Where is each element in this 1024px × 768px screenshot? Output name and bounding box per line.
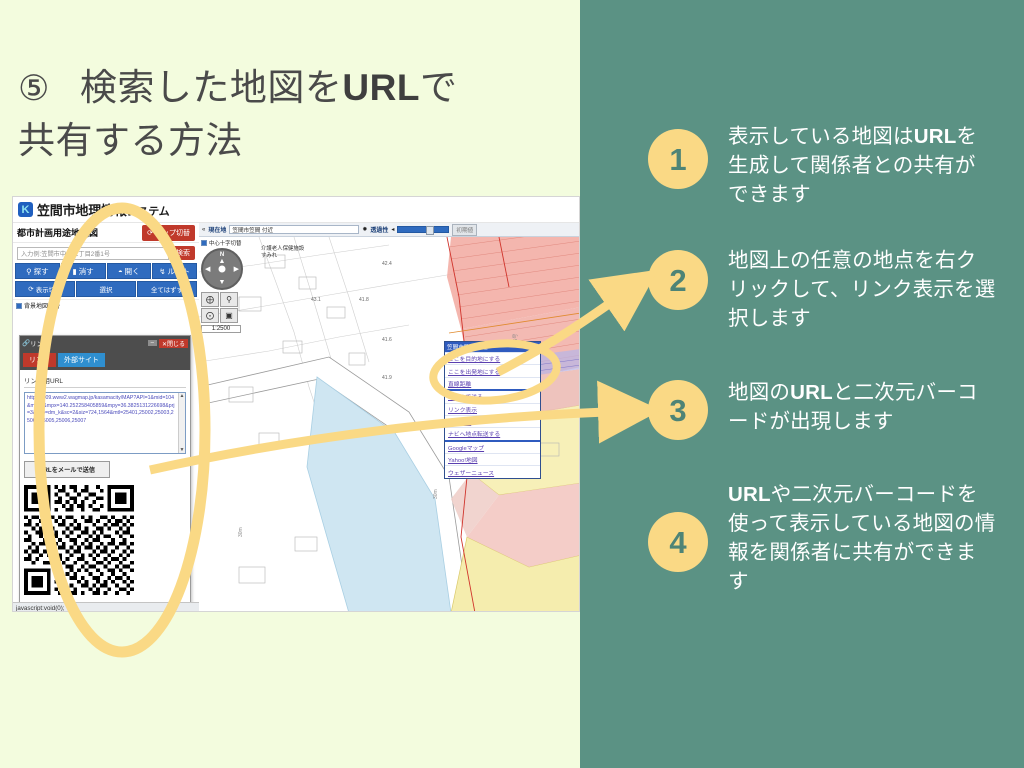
- compass-pan-control[interactable]: N ▲ ▼ ◀ ▶: [201, 248, 243, 290]
- page-title-line1-a: 検索した地図を: [80, 67, 343, 108]
- link-dialog-title: リンク: [30, 338, 50, 348]
- step-text-2-part-0: 地図上の任意の地点を右クリックして、リンク表示を選択します: [728, 249, 995, 330]
- toolbar-button-clear-all[interactable]: 全てはずす: [137, 281, 197, 297]
- search-input[interactable]: 入力例:笠間市中央三丁目2番1号: [17, 247, 169, 260]
- step-text-2: 地図上の任意の地点を右クリックして、リンク表示を選択します: [728, 246, 996, 333]
- toolbar-button-open-label: 開く: [125, 266, 140, 277]
- caret-up-icon[interactable]: ▲: [180, 393, 185, 399]
- slider-handle-icon: ◂: [391, 226, 394, 233]
- app-header: K 笠間市地理情報システム: [13, 197, 579, 223]
- refresh-icon: ⟳: [147, 229, 153, 237]
- context-menu-item-weather-news[interactable]: ウェザーニュース: [445, 465, 540, 477]
- caret-down-icon[interactable]: ▼: [180, 447, 185, 453]
- context-menu-item-destination[interactable]: ここを目的地にする: [445, 352, 540, 364]
- tab-external-site[interactable]: 外部サイト: [58, 353, 105, 367]
- close-button-label: 閉じる: [167, 342, 185, 348]
- layer-checkbox[interactable]: [16, 303, 22, 309]
- step-item-2: 2 地図上の任意の地点を右クリックして、リンク表示を選択します: [648, 246, 996, 333]
- eraser-icon: ▮: [73, 267, 77, 276]
- step-text-4: URLや二次元バーコードを使って表示している地図の情報を関係者に共有ができます: [728, 480, 996, 596]
- tab-link[interactable]: リンク: [23, 353, 56, 367]
- link-dialog-tabs: リンク 外部サイト: [20, 350, 190, 370]
- map-pane: « 現在地 笠間市笠間 付近 ✹ 透過性 ◂ 初期値: [199, 223, 579, 612]
- slide-canvas: ⑤検索した地図をURLで 共有する方法 1 表示している地図はURLを生成して関…: [0, 0, 1024, 768]
- app-title: 笠間市地理情報システム: [37, 200, 169, 219]
- context-menu-item-straight-distance[interactable]: 直線距離: [445, 377, 540, 389]
- toolbar-button-erase[interactable]: ▮消す: [61, 263, 106, 279]
- context-menu-item-send-mail[interactable]: メールで送る: [445, 389, 540, 402]
- folder-icon: ◓: [118, 267, 123, 276]
- pan-center-icon[interactable]: [219, 266, 226, 273]
- toolbar-button-select[interactable]: 選択: [76, 281, 136, 297]
- crosshair-icon[interactable]: ✹: [362, 226, 367, 233]
- context-menu-item-google-maps[interactable]: Googleマップ: [445, 440, 540, 453]
- pan-left-icon[interactable]: ◀: [205, 265, 210, 273]
- step-item-3: 3 地図のURLと二次元バーコードが出現します: [648, 378, 996, 440]
- toolbar-button-route[interactable]: ↯ルート: [152, 263, 197, 279]
- svg-text:30m: 30m: [433, 489, 439, 499]
- toolbar-row-2: ⟳表示切替 選択 全てはずす: [13, 281, 199, 299]
- opacity-slider-knob[interactable]: [426, 226, 434, 235]
- qr-code: [24, 485, 134, 595]
- map-canvas[interactable]: 30m 30m 国道355号 介護老人保健施設 すみれ 42.4 43.1 41…: [199, 237, 579, 612]
- toolbar-button-toggle-display-label: 表示切替: [36, 284, 62, 294]
- app-title-suffix: システム: [127, 206, 170, 218]
- context-menu-item-yahoo-map[interactable]: Yahoo!地図: [445, 453, 540, 465]
- page-title: ⑤検索した地図をURLで 共有する方法: [18, 62, 563, 167]
- context-menu-header: 笠間市笠間 付近 ✕: [445, 342, 540, 352]
- pan-up-icon[interactable]: ▲: [219, 258, 226, 265]
- map-zoom-buttons: ⨁ ⚲ ⨀ ▣: [201, 292, 245, 323]
- reset-default-button[interactable]: 初期値: [452, 224, 477, 236]
- toolbar-row-1: ⚲探す ▮消す ◓開く ↯ルート: [13, 263, 199, 281]
- toolbar-button-toggle-display[interactable]: ⟳表示切替: [15, 281, 75, 297]
- crosshair-toggle-label: 中心十字切替: [209, 239, 241, 247]
- url-value: http://v009.www2.wagmap.jp/kasamacity/MA…: [25, 393, 178, 453]
- context-menu-item-send-to-navi[interactable]: ナビへ地点転送する: [445, 427, 540, 439]
- pan-down-icon[interactable]: ▼: [219, 279, 226, 286]
- step-badge-1: 1: [648, 129, 708, 189]
- url-textarea[interactable]: http://v009.www2.wagmap.jp/kasamacity/MA…: [24, 392, 186, 454]
- step-badge-4: 4: [648, 512, 708, 572]
- step-badge-2: 2: [648, 250, 708, 310]
- step-text-1-part-0: 表示している地図は: [728, 125, 914, 148]
- url-scrollbar[interactable]: ▲ ▼: [178, 393, 185, 453]
- step-badge-3: 3: [648, 380, 708, 440]
- map-elevation-label-1: 42.4: [382, 261, 392, 267]
- map-controls: 中心十字切替 N ▲ ▼ ◀ ▶ ⨁ ⚲: [201, 239, 245, 333]
- map-elevation-label-5: 41.9: [382, 375, 392, 381]
- close-icon[interactable]: ✕: [529, 344, 538, 350]
- search-button[interactable]: 検索: [171, 246, 195, 260]
- minimize-icon[interactable]: –: [148, 340, 157, 346]
- current-location-label: 現在地: [208, 225, 226, 234]
- context-menu-item-nearby-facilities[interactable]: 周辺施設: [445, 415, 540, 427]
- map-switch-button[interactable]: ⟳ マップ切替: [142, 225, 195, 241]
- toolbar-button-open[interactable]: ◓開く: [107, 263, 152, 279]
- extent-icon[interactable]: ▣: [220, 308, 238, 323]
- step-text-1-part-1: URL: [914, 125, 957, 148]
- map-elevation-label-2: 43.1: [311, 297, 321, 303]
- toolbar-button-search-label: 探す: [34, 266, 49, 277]
- browser-status-bar: javascript:void(0);: [13, 602, 199, 612]
- map-toolbar: « 現在地 笠間市笠間 付近 ✹ 透過性 ◂ 初期値: [199, 223, 579, 237]
- map-elevation-label-3: 41.8: [359, 297, 369, 303]
- chevron-left-icon[interactable]: «: [202, 227, 205, 233]
- page-title-line2: 共有する方法: [18, 120, 243, 161]
- link-dialog: 🔗 リンク – ✕閉じる リンク 外部サイト リンク用URL: [19, 335, 191, 612]
- toolbar-button-clear-all-label: 全てはずす: [151, 284, 183, 294]
- page-title-line1-b: URL: [342, 67, 420, 108]
- context-menu-item-origin[interactable]: ここを出発地にする: [445, 364, 540, 376]
- layer-row-label: 背景地図切替: [24, 301, 60, 310]
- crosshair-checkbox[interactable]: [201, 240, 207, 246]
- crosshair-toggle[interactable]: 中心十字切替: [201, 239, 245, 247]
- send-url-by-mail-button[interactable]: URLをメールで送信: [24, 461, 110, 478]
- step-text-3: 地図のURLと二次元バーコードが出現します: [728, 378, 996, 436]
- zoom-out-icon[interactable]: ⨀: [201, 308, 219, 323]
- map-poi-label-line2: すみれ: [261, 253, 304, 260]
- app-title-main: 笠間市地理情報: [37, 203, 127, 218]
- url-field-label: リンク用URL: [24, 375, 186, 388]
- pan-right-icon[interactable]: ▶: [234, 265, 239, 273]
- step-text-1: 表示している地図はURLを生成して関係者との共有ができます: [728, 122, 996, 209]
- current-map-name: 都市計画用途地域図: [17, 226, 98, 239]
- layer-row[interactable]: 背景地図切替: [13, 299, 199, 311]
- map-context-menu: 笠間市笠間 付近 ✕ ここを目的地にする ここを出発地にする 直線距離 メールで…: [444, 341, 541, 479]
- search-row: 入力例:笠間市中央三丁目2番1号 検索: [13, 243, 199, 263]
- link-dialog-content: リンク用URL http://v009.www2.wagmap.jp/kasam…: [20, 370, 190, 612]
- context-menu-header-label: 笠間市笠間 付近: [447, 343, 488, 351]
- page-title-line1-c: で: [420, 67, 458, 108]
- close-button[interactable]: ✕閉じる: [159, 339, 188, 348]
- toolbar-button-search[interactable]: ⚲探す: [15, 263, 60, 279]
- map-poi-label: 介護老人保健施設 すみれ: [261, 246, 304, 260]
- map-scale: 1:2500: [201, 325, 241, 333]
- step-text-3-part-0: 地図の: [728, 381, 790, 404]
- magnifier-icon: ⚲: [26, 267, 32, 276]
- refresh-icon: ⟳: [28, 285, 33, 293]
- page-title-number: ⑤: [18, 69, 50, 108]
- route-icon: ↯: [159, 267, 165, 276]
- step-item-4: 4 URLや二次元バーコードを使って表示している地図の情報を関係者に共有ができま…: [648, 480, 996, 596]
- magnifier-icon[interactable]: ⚲: [220, 292, 238, 307]
- current-location-input[interactable]: 笠間市笠間 付近: [229, 225, 359, 234]
- toolbar-button-erase-label: 消す: [79, 266, 94, 277]
- map-elevation-label-4: 41.6: [382, 337, 392, 343]
- app-screenshot: K 笠間市地理情報システム 都市計画用途地域図 ⟳ マップ切替 入力例:笠間市中…: [12, 196, 580, 612]
- link-dialog-titlebar[interactable]: 🔗 リンク – ✕閉じる: [20, 336, 190, 350]
- opacity-label: 透過性: [370, 225, 388, 234]
- map-poi-label-line1: 介護老人保健施設: [261, 246, 304, 253]
- app-logo-icon: K: [18, 202, 33, 217]
- map-name-row: 都市計画用途地域図 ⟳ マップ切替: [13, 223, 199, 243]
- left-control-pane: 都市計画用途地域図 ⟳ マップ切替 入力例:笠間市中央三丁目2番1号 検索 ⚲探…: [13, 223, 199, 612]
- step-item-1: 1 表示している地図はURLを生成して関係者との共有ができます: [648, 122, 996, 209]
- svg-text:30m: 30m: [238, 527, 244, 537]
- opacity-slider[interactable]: [397, 226, 449, 233]
- link-icon: 🔗: [22, 339, 30, 347]
- toolbar-button-select-label: 選択: [100, 284, 113, 294]
- context-menu-item-show-link[interactable]: リンク表示: [445, 403, 540, 415]
- step-text-4-part-0: URL: [728, 483, 771, 506]
- zoom-in-icon[interactable]: ⨁: [201, 292, 219, 307]
- map-switch-label: マップ切替: [155, 228, 190, 238]
- step-text-3-part-1: URL: [790, 381, 833, 404]
- toolbar-button-route-label: ルート: [168, 266, 191, 277]
